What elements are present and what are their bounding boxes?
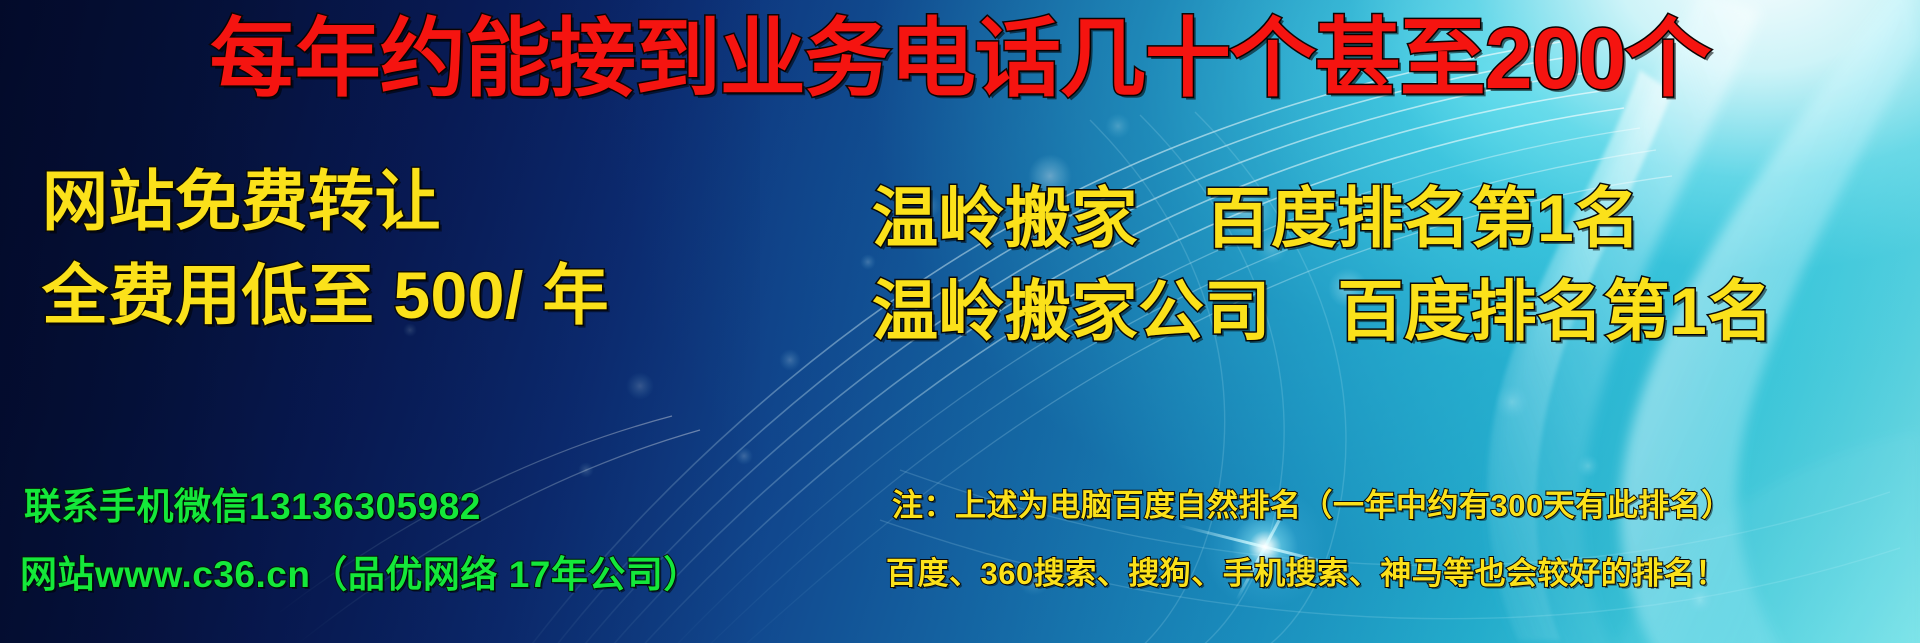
promo-banner: 每年约能接到业务电话几十个甚至200个 网站免费转让 全费用低至 500/ 年 … (0, 0, 1920, 643)
contact-phone-wechat: 联系手机微信13136305982 (24, 488, 481, 525)
ranking-line-2: 温岭搬家公司 百度排名第1名 (872, 278, 1774, 344)
headline-text: 每年约能接到业务电话几十个甚至200个 (0, 16, 1920, 102)
offer-line-2: 全费用低至 500/ 年 (42, 262, 609, 328)
contact-website: 网站www.c36.cn（品优网络 17年公司） (20, 556, 701, 593)
note-line-1: 注：上述为电脑百度自然排名（一年中约有300天有此排名） (892, 490, 1733, 521)
offer-line-1: 网站免费转让 (42, 168, 441, 234)
ranking-line-1: 温岭搬家 百度排名第1名 (872, 185, 1641, 251)
note-line-2: 百度、360搜索、搜狗、手机搜索、神马等也会较好的排名！ (886, 558, 1727, 589)
